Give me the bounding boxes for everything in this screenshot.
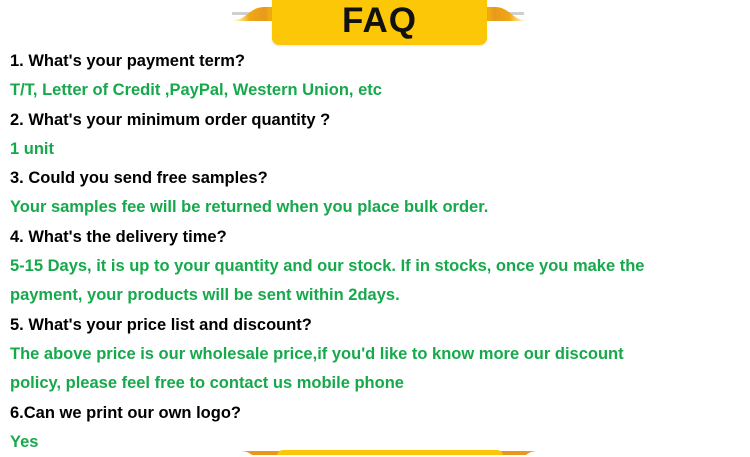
faq-item-2: 2. What's your minimum order quantity ? … [10, 106, 748, 165]
bottom-ribbon-fold-right-icon [497, 451, 537, 455]
faq-question-2: 2. What's your minimum order quantity ? [10, 106, 748, 135]
faq-item-5: 5. What's your price list and discount? … [10, 311, 748, 399]
faq-answer-2-line-1: 1 unit [10, 135, 748, 164]
faq-banner-title: FAQ [272, 0, 487, 43]
faq-question-5: 5. What's your price list and discount? [10, 311, 748, 340]
bottom-banner-plate [277, 450, 503, 455]
faq-list: 1. What's your payment term? T/T, Letter… [10, 47, 748, 457]
faq-question-1: 1. What's your payment term? [10, 47, 748, 76]
faq-banner-plate: FAQ [272, 0, 487, 45]
faq-answer-4-line-2: payment, your products will be sent with… [10, 281, 748, 310]
faq-answer-4-line-1: 5-15 Days, it is up to your quantity and… [10, 252, 748, 281]
faq-item-1: 1. What's your payment term? T/T, Letter… [10, 47, 748, 106]
bottom-ribbon-fold-left-icon [241, 451, 281, 455]
faq-answer-3-line-1: Your samples fee will be returned when y… [10, 193, 748, 222]
faq-question-3: 3. Could you send free samples? [10, 164, 748, 193]
faq-answer-5-line-1: The above price is our wholesale price,i… [10, 340, 748, 369]
faq-question-4: 4. What's the delivery time? [10, 223, 748, 252]
faq-banner: FAQ [0, 0, 750, 46]
faq-answer-5-line-2: policy, please feel free to contact us m… [10, 369, 748, 398]
faq-item-3: 3. Could you send free samples? Your sam… [10, 164, 748, 223]
faq-item-4: 4. What's the delivery time? 5-15 Days, … [10, 223, 748, 311]
bottom-banner [0, 447, 750, 455]
ribbon-fold-right-icon [481, 7, 525, 21]
faq-answer-1-line-1: T/T, Letter of Credit ,PayPal, Western U… [10, 76, 748, 105]
faq-question-6: 6.Can we print our own logo? [10, 399, 748, 428]
